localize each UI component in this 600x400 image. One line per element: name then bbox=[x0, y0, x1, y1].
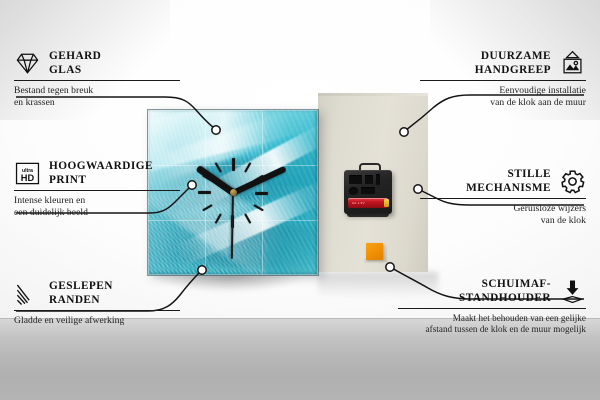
callout-hoogwaardige-print: ultra HD HOOGWAARDIGE PRINT Intense kleu… bbox=[14, 160, 180, 218]
diamond-icon bbox=[14, 50, 41, 77]
callout-divider bbox=[14, 190, 180, 191]
foam-spacer-pad bbox=[366, 243, 383, 260]
callout-title: DUURZAME HANDGREEP bbox=[475, 50, 551, 77]
product-infographic: AA 1.5V bbox=[0, 0, 600, 400]
callout-duurzame-handgreep: DUURZAME HANDGREEP Eenvoudige installati… bbox=[420, 50, 586, 108]
svg-text:HD: HD bbox=[21, 173, 35, 183]
callout-title: SCHUIMAF- STANDHOUDER bbox=[459, 278, 551, 305]
hanging-picture-frame-icon bbox=[559, 50, 586, 77]
clock-mechanism: AA 1.5V bbox=[344, 170, 392, 214]
callout-title: STILLE MECHANISME bbox=[466, 168, 551, 195]
callout-header: GEHARD GLAS bbox=[14, 50, 180, 77]
callout-stille-mechanisme: STILLE MECHANISME Geruisloze wijzers van… bbox=[420, 168, 586, 226]
callout-header: DUURZAME HANDGREEP bbox=[420, 50, 586, 77]
mechanism-dial bbox=[349, 187, 358, 195]
wall-panel-top-edge bbox=[318, 93, 428, 96]
callout-header: ultra HD HOOGWAARDIGE PRINT bbox=[14, 160, 180, 187]
mechanism-slot bbox=[349, 175, 362, 184]
callout-divider bbox=[420, 198, 586, 199]
callout-divider bbox=[398, 308, 586, 309]
battery-label: AA 1.5V bbox=[352, 201, 365, 205]
foam-pad-top bbox=[366, 243, 383, 260]
callout-divider bbox=[14, 310, 180, 311]
mechanism-slot bbox=[365, 175, 373, 184]
callout-header: SCHUIMAF- STANDHOUDER bbox=[398, 278, 586, 305]
callout-divider bbox=[14, 80, 180, 81]
callout-title: HOOGWAARDIGE PRINT bbox=[49, 160, 153, 187]
battery-positive-terminal bbox=[384, 199, 389, 207]
callout-title: GEHARD GLAS bbox=[49, 50, 101, 77]
callout-header: GESLEPEN RANDEN bbox=[14, 280, 180, 307]
spacer-stamp-down-arrow-icon bbox=[559, 278, 586, 305]
gear-icon bbox=[559, 168, 586, 195]
callout-header: STILLE MECHANISME bbox=[420, 168, 586, 195]
mechanism-slot bbox=[376, 174, 380, 185]
mechanism-slot bbox=[361, 187, 375, 194]
mechanism-base bbox=[347, 213, 389, 217]
battery: AA 1.5V bbox=[348, 198, 388, 208]
beveled-edge-lines-icon bbox=[14, 280, 41, 307]
callout-schuimafstandhouder: SCHUIMAF- STANDHOUDER Maakt het behouden… bbox=[398, 278, 586, 335]
foam-pad-side bbox=[383, 245, 387, 262]
callout-title: GESLEPEN RANDEN bbox=[49, 280, 113, 307]
mechanism-body: AA 1.5V bbox=[344, 170, 392, 214]
ultra-hd-icon: ultra HD bbox=[14, 160, 41, 187]
callout-divider bbox=[420, 80, 586, 81]
callout-gehard-glas: GEHARD GLAS Bestand tegen breuk en krass… bbox=[14, 50, 180, 108]
callout-geslepen-randen: GESLEPEN RANDEN Gladde en veilige afwerk… bbox=[14, 280, 180, 327]
